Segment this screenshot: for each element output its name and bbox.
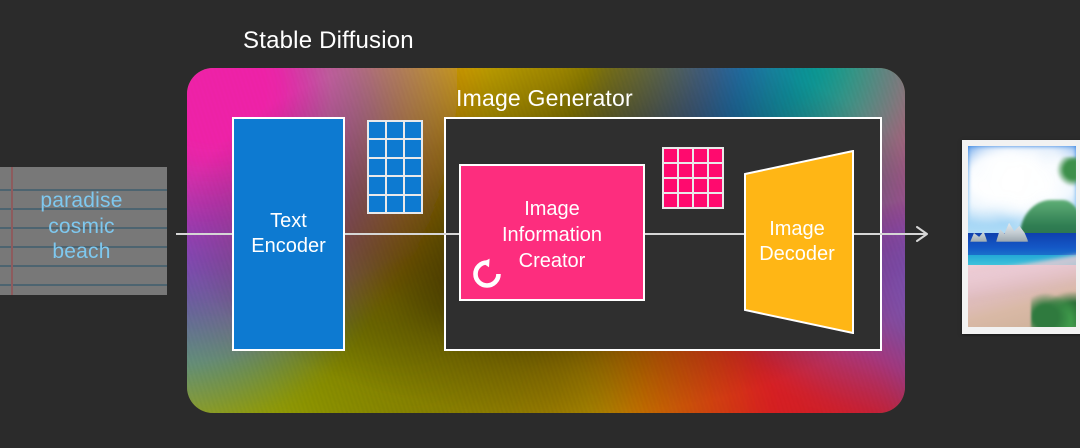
- flow-arrowhead-icon: [915, 225, 929, 243]
- grid-cell: [405, 122, 421, 138]
- grid-cell: [405, 159, 421, 175]
- image-decoder-block: Image Decoder: [744, 150, 854, 334]
- grid-cell: [709, 149, 722, 162]
- stable-diffusion-title: Stable Diffusion: [243, 27, 414, 55]
- prompt-line-3: beach: [0, 239, 163, 265]
- grid-cell: [679, 194, 692, 207]
- pink-latent-grid: [662, 147, 724, 209]
- iic-label-line-2: Information: [461, 222, 643, 248]
- grid-cell: [694, 164, 707, 177]
- image-generator-title: Image Generator: [456, 84, 633, 112]
- image-decoder-label-line-1: Image: [769, 217, 825, 242]
- text-encoder-block: Text Encoder: [232, 117, 345, 351]
- grid-cell: [387, 177, 403, 193]
- image-decoder-label-line-2: Decoder: [759, 242, 835, 267]
- prompt-line-1: paradise: [0, 188, 163, 214]
- notebook-paper-prompt: paradise cosmic beach: [0, 167, 167, 295]
- iic-label-line-1: Image: [461, 196, 643, 222]
- grid-cell: [369, 177, 385, 193]
- grid-cell: [679, 179, 692, 192]
- photo-palm-fronds: [1054, 157, 1076, 190]
- grid-cell: [405, 196, 421, 212]
- grid-cell: [679, 164, 692, 177]
- grid-cell: [664, 179, 677, 192]
- grid-cell: [369, 140, 385, 156]
- grid-cell: [387, 140, 403, 156]
- grid-cell: [387, 196, 403, 212]
- grid-cell: [405, 140, 421, 156]
- grid-cell: [709, 179, 722, 192]
- image-decoder-label: Image Decoder: [744, 150, 854, 334]
- grid-cell: [369, 159, 385, 175]
- grid-cell: [664, 164, 677, 177]
- generated-beach-photo: [968, 146, 1076, 327]
- grid-cell: [694, 194, 707, 207]
- grid-cell: [387, 122, 403, 138]
- grid-cell: [679, 149, 692, 162]
- loop-refresh-icon: [470, 257, 504, 291]
- prompt-line-2: cosmic: [0, 214, 163, 240]
- grid-cell: [694, 179, 707, 192]
- grid-cell: [664, 194, 677, 207]
- prompt-text: paradise cosmic beach: [0, 188, 163, 265]
- grid-cell: [709, 164, 722, 177]
- grid-cell: [405, 177, 421, 193]
- photo-foreground-foliage: [1031, 284, 1076, 327]
- grid-cell: [369, 196, 385, 212]
- generated-image-frame: [962, 140, 1080, 334]
- grid-cell: [664, 149, 677, 162]
- grid-cell: [387, 159, 403, 175]
- image-information-creator-block: Image Information Creator: [459, 164, 645, 301]
- text-encoder-label-line-1: Text: [251, 209, 326, 234]
- grid-cell: [694, 149, 707, 162]
- blue-token-grid: [367, 120, 423, 214]
- grid-cell: [709, 194, 722, 207]
- grid-cell: [369, 122, 385, 138]
- text-encoder-label-line-2: Encoder: [251, 234, 326, 259]
